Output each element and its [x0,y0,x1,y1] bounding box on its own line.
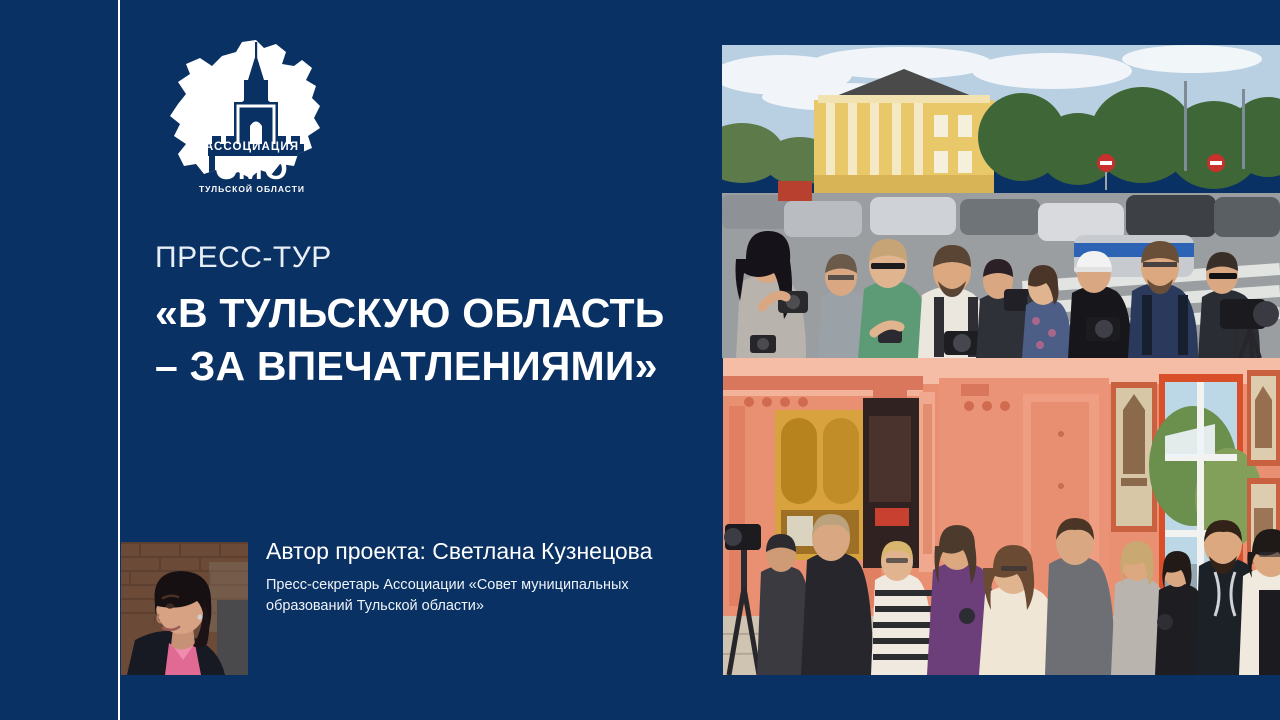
author-name: Автор проекта: Светлана Кузнецова [266,539,706,564]
eyebrow-label: ПРЕСС-ТУР [155,243,715,273]
presentation-slide: АССОЦИАЦИЯ СМО ТУЛЬСКОЙ ОБЛАСТИ ПРЕСС-ТУ… [0,0,1280,720]
association-logo: АССОЦИАЦИЯ СМО ТУЛЬСКОЙ ОБЛАСТИ [156,36,334,196]
left-accent-rule [118,0,120,720]
page-title: «В ТУЛЬСКУЮ ОБЛАСТЬ – ЗА ВПЕЧАТЛЕНИЯМИ» [155,287,715,394]
title-block: ПРЕСС-ТУР «В ТУЛЬСКУЮ ОБЛАСТЬ – ЗА ВПЕЧА… [155,243,715,394]
photo-press-group-outdoors [722,45,1280,358]
logo-org-line1: АССОЦИАЦИЯ [205,141,299,153]
author-avatar [121,542,248,675]
author-info: Автор проекта: Светлана Кузнецова Пресс-… [266,539,706,616]
photo-press-group-museum-interior [723,358,1280,675]
author-role: Пресс-секретарь Ассоциации «Совет муници… [266,575,706,616]
logo-org-line2: СМО [215,153,289,186]
logo-org-line3: ТУЛЬСКОЙ ОБЛАСТИ [199,183,305,194]
